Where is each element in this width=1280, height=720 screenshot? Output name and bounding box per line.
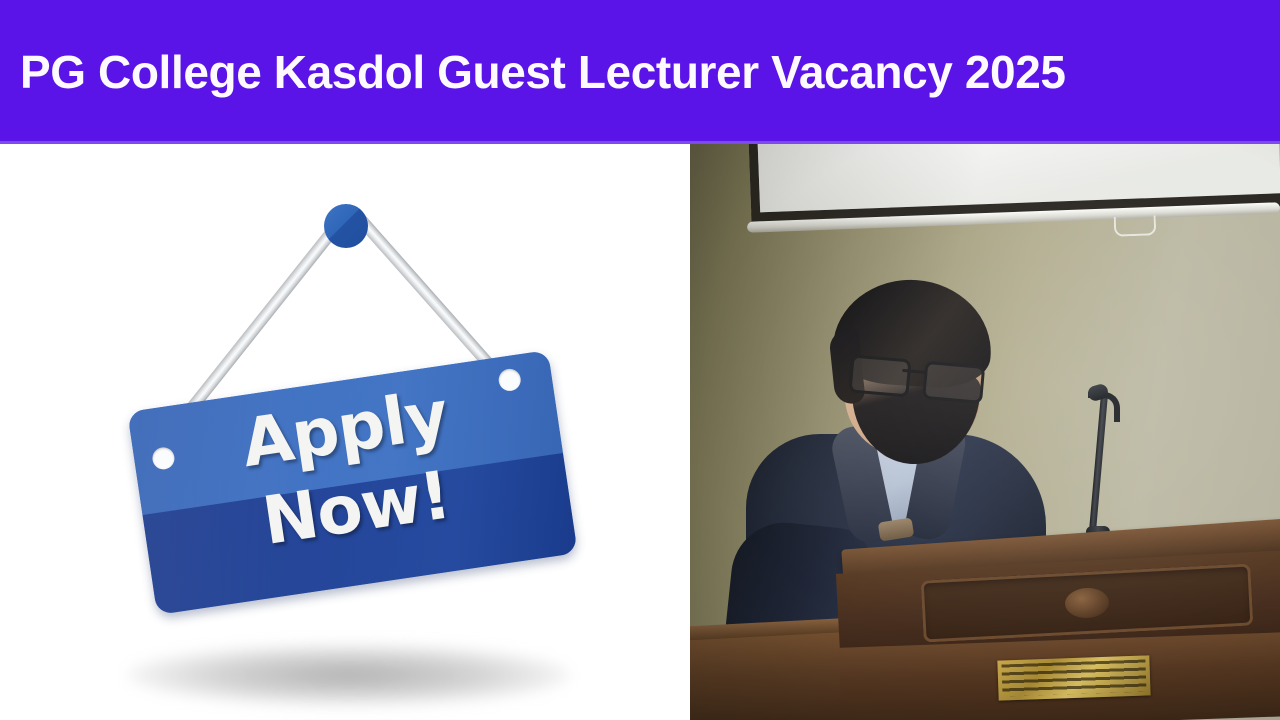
poster-page: PG College Kasdol Guest Lecturer Vacancy… bbox=[0, 0, 1280, 720]
sign-drop-shadow bbox=[128, 644, 570, 706]
photo-vignette bbox=[690, 144, 1280, 720]
apply-now-sign-board[interactable]: Apply Now! bbox=[127, 350, 577, 615]
header-banner: PG College Kasdol Guest Lecturer Vacancy… bbox=[0, 0, 1280, 144]
content-area: Apply Now! bbox=[0, 144, 1280, 720]
lecturer-photo bbox=[690, 144, 1280, 720]
page-title: PG College Kasdol Guest Lecturer Vacancy… bbox=[20, 0, 1264, 144]
apply-now-sign-graphic: Apply Now! bbox=[0, 144, 690, 720]
apply-now-panel: Apply Now! bbox=[0, 144, 690, 720]
sign-hanging-knob-icon bbox=[324, 204, 368, 248]
